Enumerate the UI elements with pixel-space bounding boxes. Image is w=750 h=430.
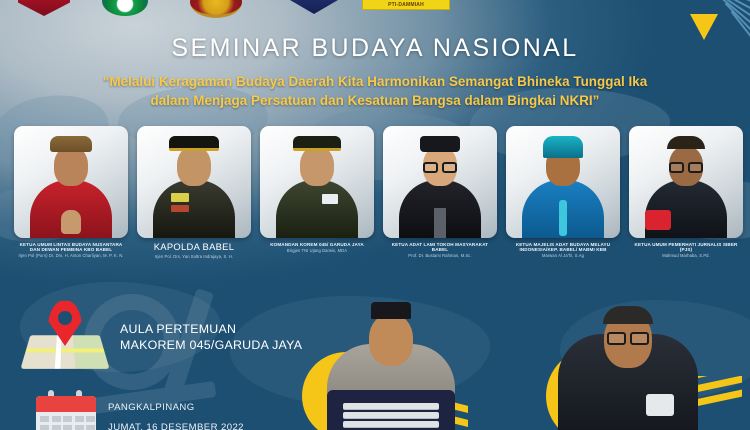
speaker-name: Irjen Pol (Purn) Dr. Drs. H. Anton Charl… (14, 254, 128, 259)
speaker-role: KOMANDAN KOREM 045/ GARUDA JAYA (260, 242, 374, 247)
speaker-name: Marwan Al Ja'fri, S.Ag (506, 254, 620, 259)
logo-ring-green-icon (102, 0, 148, 16)
logo-yellow-banner-icon: PTI-DAMMIAH (362, 0, 450, 10)
bottom-photo-group (280, 288, 750, 430)
speaker-role: KETUA UMUM LINTAS BUDAYA NUSANTARA dan D… (14, 242, 128, 252)
speaker-role: KETUA UMUM PEMERHATI JURNALIS SIBER (PJS… (629, 242, 743, 252)
speaker-photo (14, 126, 128, 238)
bottom-person-glasses (548, 288, 708, 430)
speaker-photo (629, 126, 743, 238)
venue-location-row: AULA PERTEMUAN MAKOREM 045/GARUDA JAYA (22, 300, 312, 374)
logo-navy-shield-icon (290, 0, 338, 14)
speaker-photo (137, 126, 251, 238)
speaker-role: KETUA MAJELIS ADAT BUDAYA MELAYU INDONES… (506, 242, 620, 252)
venue-city: PANGKALPINANG (108, 402, 195, 413)
subtitle-line-1: “Melalui Keragaman Budaya Daerah Kita Ha… (103, 74, 648, 89)
speaker-name: Mahmud Marhaba, S.Pd. (629, 254, 743, 259)
speaker-name: Prof. Dr. Bustami Rahman, M.Sc. (383, 254, 497, 259)
venue-block: AULA PERTEMUAN MAKOREM 045/GARUDA JAYA P… (22, 300, 312, 430)
speaker-card: KETUA MAJELIS ADAT BUDAYA MELAYU INDONES… (506, 126, 620, 259)
venue-hall-line-2: MAKOREM 045/GARUDA JAYA (120, 338, 302, 352)
speaker-name: Brigjen TNI Ujang Darwis, MDA (260, 249, 374, 254)
speaker-card: KOMANDAN KOREM 045/ GARUDA JAYA Brigjen … (260, 126, 374, 259)
organizer-logos: PTI-DAMMIAH (0, 0, 750, 16)
speaker-card: KETUA UMUM LINTAS BUDAYA NUSANTARA dan D… (14, 126, 128, 259)
speaker-card: KETUA UMUM PEMERHATI JURNALIS SIBER (PJS… (629, 126, 743, 259)
speaker-name: Irjen Pol. Drs. Yan Sultra Indrajaya, S.… (137, 255, 251, 260)
speaker-card: KETUA ADAT LAMI TOKOH MASYARAKAT BABEL P… (383, 126, 497, 259)
seminar-poster: PTI-DAMMIAH SEMINAR BUDAYA NASIONAL “Mel… (0, 0, 750, 430)
speaker-role: KETUA ADAT LAMI TOKOH MASYARAKAT BABEL (383, 242, 497, 252)
map-pin-icon (22, 300, 108, 374)
speaker-role: KAPOLDA BABEL (137, 242, 251, 253)
bottom-person-reading (316, 292, 466, 430)
poster-subtitle: “Melalui Keragaman Budaya Daerah Kita Ha… (0, 72, 750, 110)
calendar-icon (36, 390, 96, 430)
venue-hall-line-1: AULA PERTEMUAN (120, 322, 236, 336)
logo-shield-maroon-icon (18, 0, 70, 16)
subtitle-line-2: dalam Menjaga Persatuan dan Kesatuan Ban… (151, 93, 600, 108)
venue-date-text: PANGKALPINANG JUMAT, 16 DESEMBER 2022 (108, 398, 244, 430)
speaker-photo (383, 126, 497, 238)
headline-block: SEMINAR BUDAYA NASIONAL “Melalui Keragam… (0, 34, 750, 110)
venue-date-row: PANGKALPINANG JUMAT, 16 DESEMBER 2022 (22, 390, 312, 430)
venue-name: AULA PERTEMUAN MAKOREM 045/GARUDA JAYA (120, 321, 302, 354)
speaker-photo (506, 126, 620, 238)
venue-date: JUMAT, 16 DESEMBER 2022 (108, 422, 244, 430)
logo-round-gold-icon (190, 0, 242, 18)
speaker-photo (260, 126, 374, 238)
page-title: SEMINAR BUDAYA NASIONAL (0, 34, 750, 63)
speaker-list: KETUA UMUM LINTAS BUDAYA NUSANTARA dan D… (14, 126, 736, 259)
speaker-card: KAPOLDA BABEL Irjen Pol. Drs. Yan Sultra… (137, 126, 251, 259)
